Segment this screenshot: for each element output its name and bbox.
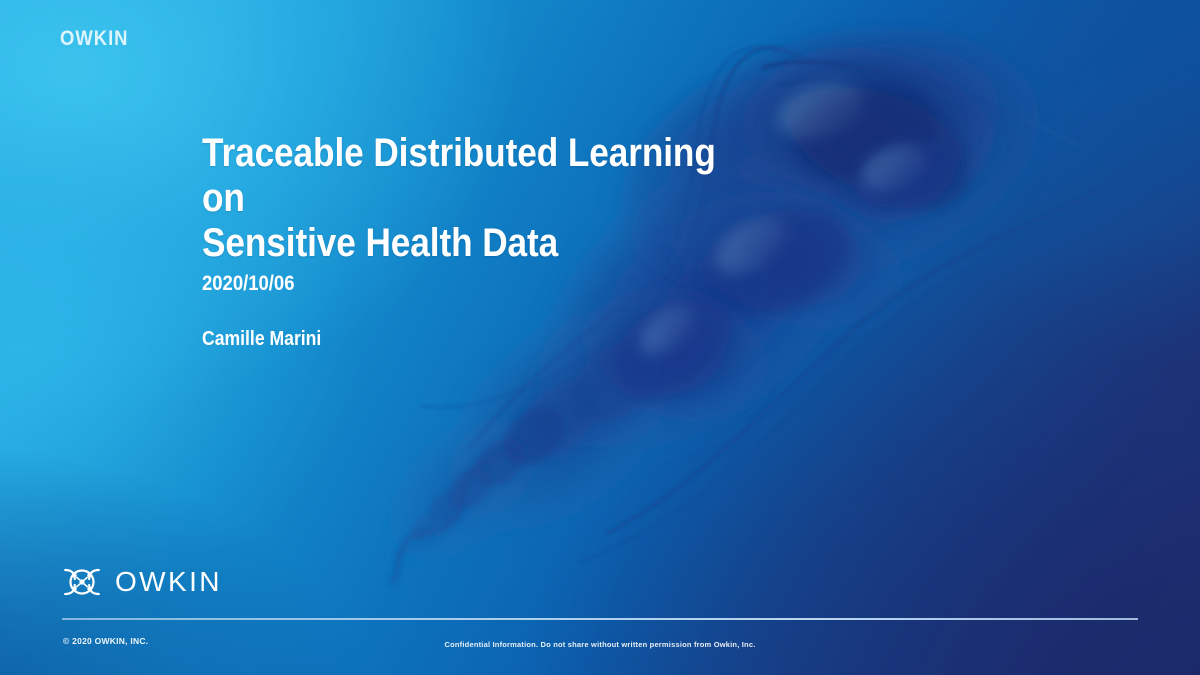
ink-turbulent-column xyxy=(507,275,769,470)
ink-tentacle-strands xyxy=(420,47,1100,562)
owkin-network-emblem-icon xyxy=(62,564,102,600)
footer-confidential-notice: Confidential Information. Do not share w… xyxy=(0,640,1200,649)
ink-tail-clusters xyxy=(405,395,575,546)
slide-date: 2020/10/06 xyxy=(202,272,294,296)
slide-author: Camille Marini xyxy=(202,328,321,351)
ink-wispy-tail xyxy=(390,440,528,584)
presentation-title-slide: OWKIN Traceable Distributed Learning on … xyxy=(0,0,1200,675)
ink-halo xyxy=(361,0,1070,589)
footer-divider xyxy=(62,618,1138,620)
title-block: Traceable Distributed Learning on Sensit… xyxy=(202,131,822,267)
owkin-logo-wordmark: OWKIN xyxy=(115,568,222,596)
page-title: Traceable Distributed Learning on Sensit… xyxy=(202,131,748,267)
header-owkin-wordmark: OWKIN xyxy=(60,27,128,51)
owkin-logo-lockup: OWKIN xyxy=(62,564,222,600)
